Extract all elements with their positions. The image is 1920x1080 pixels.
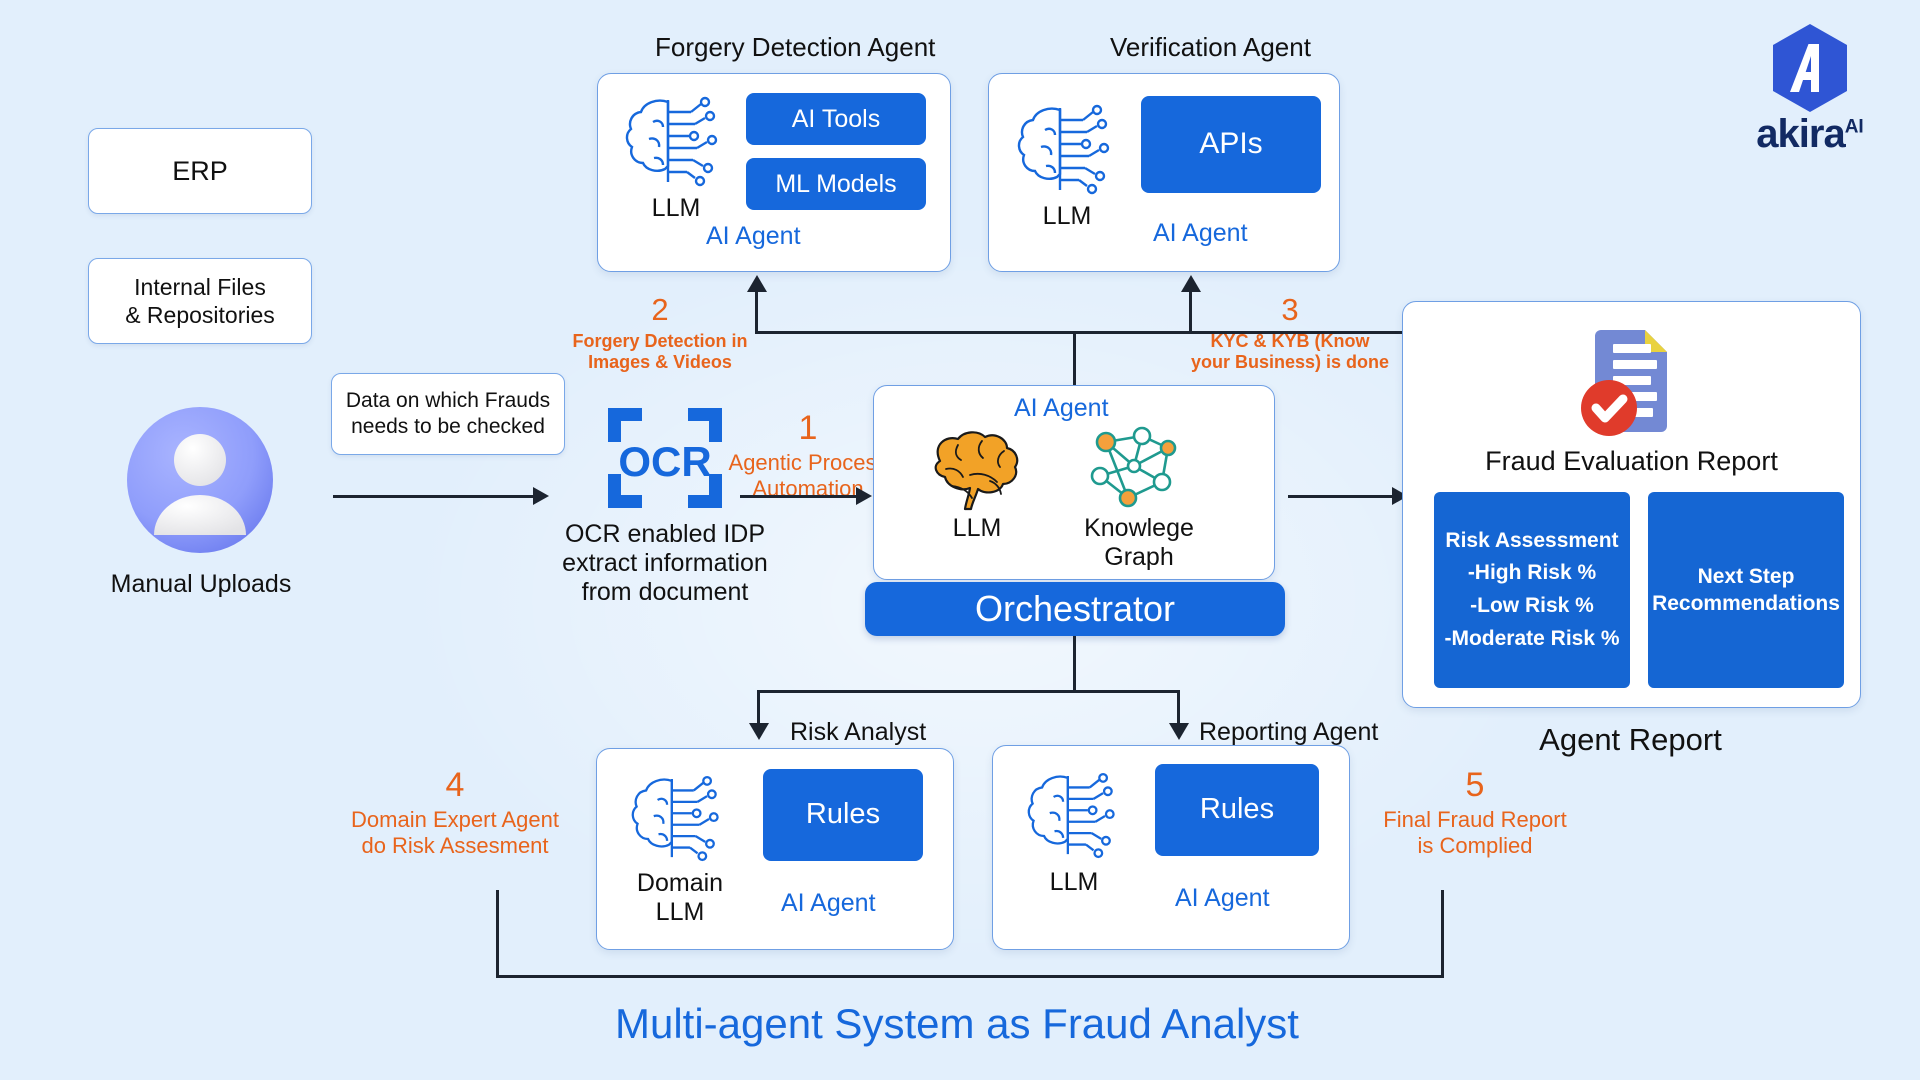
llm-chip-brain-icon bbox=[1015, 102, 1120, 198]
verification-agent-title: Verification Agent bbox=[1110, 32, 1311, 63]
verification-llm-label: LLM bbox=[1031, 202, 1103, 231]
bottom-bracket-bar bbox=[496, 975, 1444, 978]
knowledge-graph-label: Knowlege Graph bbox=[1079, 514, 1199, 572]
orchestrator-card[interactable]: AI Agent LLM bbox=[873, 385, 1275, 580]
connector-to-risk-analyst-dropper bbox=[757, 690, 760, 726]
report-document-icon bbox=[1563, 324, 1693, 442]
arrow-uploads-to-ocr-line bbox=[333, 495, 535, 498]
connector-to-forgery-riser bbox=[755, 290, 758, 333]
reporting-chip-rules[interactable]: Rules bbox=[1155, 764, 1319, 856]
verification-ai-agent-label: AI Agent bbox=[1153, 219, 1248, 248]
forgery-agent-title: Forgery Detection Agent bbox=[655, 32, 935, 63]
brand-name: akira bbox=[1756, 112, 1844, 156]
data-note-label: Data on which Frauds needs to be checked bbox=[346, 388, 550, 439]
ocr-icon: OCR bbox=[606, 406, 724, 510]
risk-analyst-ai-agent-label: AI Agent bbox=[781, 889, 876, 918]
data-note-box[interactable]: Data on which Frauds needs to be checked bbox=[331, 373, 565, 455]
arrow-to-reporting-head bbox=[1169, 723, 1189, 740]
arrow-uploads-to-ocr-head bbox=[533, 487, 549, 505]
step-2-annotation: 2 Forgery Detection in Images & Videos bbox=[565, 292, 755, 373]
bottom-bracket-left-riser bbox=[496, 890, 499, 978]
akira-hexagon-icon bbox=[1768, 22, 1852, 114]
step-2-number: 2 bbox=[565, 292, 755, 329]
risk-analyst-title: Risk Analyst bbox=[790, 718, 926, 747]
forgery-llm-label: LLM bbox=[640, 194, 712, 223]
forgery-agent-card[interactable]: LLM AI Tools ML Models AI Agent bbox=[597, 73, 951, 272]
verification-chip-apis[interactable]: APIs bbox=[1141, 96, 1321, 193]
arrow-orchestrator-to-report-line bbox=[1288, 495, 1396, 498]
step-5-text: Final Fraud Report is Complied bbox=[1365, 807, 1585, 859]
step-2-text: Forgery Detection in Images & Videos bbox=[565, 331, 755, 373]
forgery-ai-agent-label: AI Agent bbox=[706, 222, 801, 251]
arrow-to-risk-analyst-head bbox=[749, 723, 769, 740]
risk-analyst-chip-rules-label: Rules bbox=[806, 798, 880, 831]
step-4-number: 4 bbox=[330, 765, 580, 805]
footer-title: Multi-agent System as Fraud Analyst bbox=[615, 1000, 1299, 1048]
risk-assessment-chip[interactable]: Risk Assessment -High Risk % -Low Risk %… bbox=[1434, 492, 1630, 688]
reporting-agent-card[interactable]: LLM Rules AI Agent bbox=[992, 745, 1350, 950]
connector-orchestrator-down-stem bbox=[1073, 636, 1076, 692]
brain-icon bbox=[922, 431, 1032, 511]
arrow-ocr-to-orchestrator-head bbox=[856, 487, 872, 505]
forgery-chip-ai-tools-label: AI Tools bbox=[792, 105, 880, 134]
step-4-text: Domain Expert Agent do Risk Assesment bbox=[330, 807, 580, 859]
risk-analyst-chip-rules[interactable]: Rules bbox=[763, 769, 923, 861]
source-erp[interactable]: ERP bbox=[88, 128, 312, 214]
connector-bottom-branch-bar bbox=[757, 690, 1177, 693]
next-step-recommendations-chip[interactable]: Next Step Recommendations bbox=[1648, 492, 1844, 688]
verification-chip-apis-label: APIs bbox=[1199, 127, 1262, 162]
reporting-ai-agent-label: AI Agent bbox=[1175, 884, 1270, 913]
manual-uploads-label: Manual Uploads bbox=[60, 570, 342, 599]
orchestrator-ai-agent-label: AI Agent bbox=[1014, 394, 1109, 423]
brand-superscript: AI bbox=[1845, 117, 1864, 138]
forgery-chip-ai-tools[interactable]: AI Tools bbox=[746, 93, 926, 145]
bottom-bracket-right-riser bbox=[1441, 890, 1444, 978]
step-3-number: 3 bbox=[1190, 292, 1390, 329]
risk-analyst-llm-label: Domain LLM bbox=[625, 869, 735, 927]
step-5-annotation: 5 Final Fraud Report is Complied bbox=[1365, 765, 1585, 859]
verification-agent-card[interactable]: LLM APIs AI Agent bbox=[988, 73, 1340, 272]
agent-report-caption: Agent Report bbox=[1402, 722, 1859, 758]
akira-ai-logo: akiraAI bbox=[1730, 22, 1890, 154]
source-internal-files-label: Internal Files & Repositories bbox=[125, 273, 275, 329]
ocr-caption: OCR enabled IDP extract information from… bbox=[540, 520, 790, 606]
reporting-chip-rules-label: Rules bbox=[1200, 793, 1274, 826]
orchestrator-llm-label: LLM bbox=[932, 514, 1022, 543]
fraud-evaluation-report-heading: Fraud Evaluation Report bbox=[1403, 446, 1860, 477]
akira-wordmark: akiraAI bbox=[1756, 114, 1863, 154]
connector-orchestrator-up-stem bbox=[1073, 333, 1076, 389]
source-erp-label: ERP bbox=[172, 155, 228, 188]
arrow-to-verification-head bbox=[1181, 275, 1201, 292]
risk-analyst-card[interactable]: Domain LLM Rules AI Agent bbox=[596, 748, 954, 950]
step-4-annotation: 4 Domain Expert Agent do Risk Assesment bbox=[330, 765, 580, 859]
connector-to-reporting-dropper bbox=[1177, 690, 1180, 726]
svg-text:OCR: OCR bbox=[618, 438, 711, 485]
knowledge-graph-icon bbox=[1084, 426, 1184, 512]
step-3-text: KYC & KYB (Know your Business) is done bbox=[1190, 331, 1390, 373]
forgery-chip-ml-models-label: ML Models bbox=[775, 170, 896, 199]
orchestrator-bar-label: Orchestrator bbox=[975, 588, 1175, 630]
next-step-recommendations-text: Next Step Recommendations bbox=[1652, 563, 1840, 618]
risk-assessment-chip-text: Risk Assessment -High Risk % -Low Risk %… bbox=[1444, 525, 1619, 655]
arrow-ocr-to-orchestrator-line bbox=[740, 495, 860, 498]
llm-chip-brain-icon bbox=[629, 773, 729, 865]
reporting-agent-title: Reporting Agent bbox=[1199, 718, 1378, 747]
arrow-to-forgery-head bbox=[747, 275, 767, 292]
llm-chip-brain-icon bbox=[1025, 770, 1125, 862]
reporting-llm-label: LLM bbox=[1029, 868, 1119, 897]
manual-uploads-avatar bbox=[124, 404, 276, 556]
source-internal-files[interactable]: Internal Files & Repositories bbox=[88, 258, 312, 344]
step-5-number: 5 bbox=[1365, 765, 1585, 805]
step-1-number: 1 bbox=[718, 408, 898, 448]
orchestrator-bar[interactable]: Orchestrator bbox=[865, 582, 1285, 636]
llm-chip-brain-icon bbox=[623, 94, 728, 190]
fraud-evaluation-report-card[interactable]: Fraud Evaluation Report Risk Assessment … bbox=[1402, 301, 1861, 708]
connector-to-verification-riser bbox=[1189, 290, 1192, 333]
forgery-chip-ml-models[interactable]: ML Models bbox=[746, 158, 926, 210]
